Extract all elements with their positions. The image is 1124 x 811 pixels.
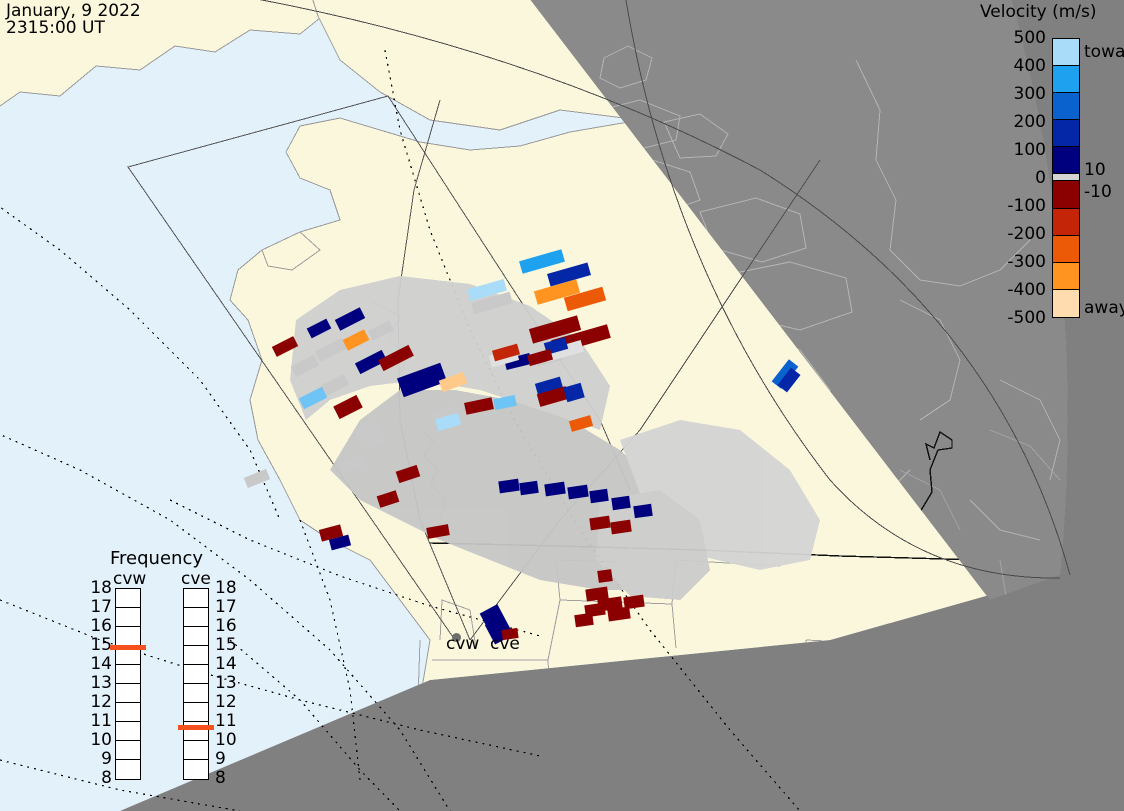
gauge-segment — [184, 665, 208, 684]
frequency-tick-17: 17 — [88, 597, 112, 617]
gauge-label-cve: cve — [181, 569, 211, 589]
frequency-tick-10: 10 — [88, 730, 112, 750]
site-label-cvw: cvw — [446, 634, 479, 654]
gauge-segment — [184, 627, 208, 646]
colorbar-band-9 — [1053, 263, 1079, 290]
velocity-cell — [611, 496, 630, 510]
gauge-segment — [184, 589, 208, 608]
colorbar-tick-labels: 5004003002001000-100-200-300-400-500 — [980, 38, 1046, 318]
velocity-cell — [589, 516, 610, 531]
gauge-segment — [184, 703, 208, 722]
velocity-cell — [464, 397, 494, 415]
frequency-tick-16: 16 — [88, 616, 112, 636]
frequency-tick-14: 14 — [215, 654, 239, 674]
velocity-cell — [623, 595, 644, 610]
frequency-tick-18: 18 — [215, 578, 239, 598]
frequency-tick-18: 18 — [88, 578, 112, 598]
frequency-tick-15: 15 — [215, 635, 239, 655]
colorbar-tick--500: -500 — [1007, 308, 1046, 328]
gauge-segment — [116, 665, 140, 684]
velocity-cell — [307, 319, 332, 339]
gauge-label-cvw: cvw — [113, 569, 146, 589]
frequency-gauge-cvw — [115, 588, 141, 780]
gauge-segment — [116, 741, 140, 760]
frequency-tick-8: 8 — [88, 768, 112, 788]
colorbar-band-7 — [1053, 209, 1079, 236]
velocity-cell — [244, 469, 270, 488]
gauge-segment — [184, 608, 208, 627]
velocity-cell — [574, 613, 593, 627]
gauge-segment — [116, 722, 140, 741]
colorbar-tick--300: -300 — [1007, 252, 1046, 272]
time-label: 2315:00 UT — [6, 19, 105, 37]
frequency-tick-12: 12 — [215, 692, 239, 712]
gauge-marker-cvw — [110, 645, 146, 650]
gauge-segment — [184, 646, 208, 665]
frequency-tick-10: 10 — [215, 730, 239, 750]
gauge-segment — [184, 760, 208, 779]
gauge-segment — [184, 741, 208, 760]
velocity-cell — [589, 489, 608, 503]
gauge-segment — [116, 627, 140, 646]
frequency-title: Frequency — [110, 548, 203, 569]
frequency-tick-11: 11 — [215, 711, 239, 731]
colorbar-tick-400: 400 — [1014, 56, 1046, 76]
velocity-cell — [315, 338, 347, 362]
colorbar-band-0 — [1053, 39, 1079, 66]
frequency-tick-13: 13 — [88, 673, 112, 693]
colorbar-tick-0: 0 — [1035, 168, 1046, 188]
velocity-cell — [633, 504, 652, 518]
velocity-cell — [335, 307, 365, 330]
frequency-tick-17: 17 — [215, 597, 239, 617]
velocity-cell — [339, 455, 367, 473]
velocity-cell — [343, 329, 370, 351]
velocity-cell — [426, 524, 450, 539]
frequency-tick-14: 14 — [88, 654, 112, 674]
gauge-marker-cve — [178, 725, 214, 730]
frequency-tick-15: 15 — [88, 635, 112, 655]
colorbar-band-3 — [1053, 120, 1079, 147]
colorbar-band-6 — [1053, 181, 1079, 208]
colorbar-band-10 — [1053, 290, 1079, 317]
velocity-cell — [610, 520, 631, 535]
gauge-segment — [184, 684, 208, 703]
velocity-cell — [569, 415, 593, 432]
colorbar-band-8 — [1053, 236, 1079, 263]
velocity-cell — [498, 479, 519, 494]
frequency-tick-11: 11 — [88, 711, 112, 731]
velocity-cell — [493, 395, 517, 410]
radar-velocity-cells — [0, 0, 1124, 811]
velocity-cell — [378, 345, 414, 371]
colorbar-tick-100: 100 — [1014, 140, 1046, 160]
colorbar-positive-threshold: 10 — [1084, 160, 1106, 180]
colorbar-band-5 — [1053, 174, 1079, 181]
frequency-tick-9: 9 — [215, 749, 239, 769]
colorbar-band-2 — [1053, 93, 1079, 120]
colorbar-band-1 — [1053, 66, 1079, 93]
velocity-cell — [377, 490, 400, 508]
frequency-tick-13: 13 — [215, 673, 239, 693]
velocity-cell — [396, 465, 421, 483]
velocity-cell — [291, 355, 320, 377]
frequency-tick-12: 12 — [88, 692, 112, 712]
colorbar-band-4 — [1053, 147, 1079, 174]
colorbar-toward-label: toward — [1084, 42, 1124, 62]
colorbar-tick-300: 300 — [1014, 84, 1046, 104]
velocity-cell — [563, 383, 584, 402]
frequency-gauge-cve — [183, 588, 209, 780]
colorbar-tick--200: -200 — [1007, 224, 1046, 244]
colorbar-away-label: away — [1084, 298, 1124, 318]
colorbar-title: Velocity (m/s) — [980, 2, 1097, 22]
velocity-cell — [544, 482, 565, 497]
gauge-segment — [116, 760, 140, 779]
gauge-segment — [116, 589, 140, 608]
gauge-segment — [116, 684, 140, 703]
velocity-cell — [368, 320, 394, 341]
velocity-cell — [519, 481, 538, 495]
colorbar-tick--100: -100 — [1007, 196, 1046, 216]
velocity-cell — [272, 336, 298, 357]
site-label-cve: cve — [490, 634, 520, 654]
colorbar-tick-500: 500 — [1014, 28, 1046, 48]
gauge-segment — [116, 608, 140, 627]
gauge-segment — [116, 703, 140, 722]
frequency-tick-9: 9 — [88, 749, 112, 769]
colorbar-negative-threshold: -10 — [1084, 182, 1112, 202]
frequency-tick-16: 16 — [215, 616, 239, 636]
colorbar-tick--400: -400 — [1007, 280, 1046, 300]
colorbar-tick-200: 200 — [1014, 112, 1046, 132]
velocity-cell — [597, 569, 613, 583]
radar-velocity-map: cvw cve January, 9 2022 2315:00 UT Veloc… — [0, 0, 1124, 811]
velocity-cell — [567, 485, 588, 500]
velocity-colorbar — [1052, 38, 1080, 318]
velocity-cell — [333, 395, 363, 419]
frequency-tick-8: 8 — [215, 768, 239, 788]
velocity-cell — [299, 387, 328, 409]
